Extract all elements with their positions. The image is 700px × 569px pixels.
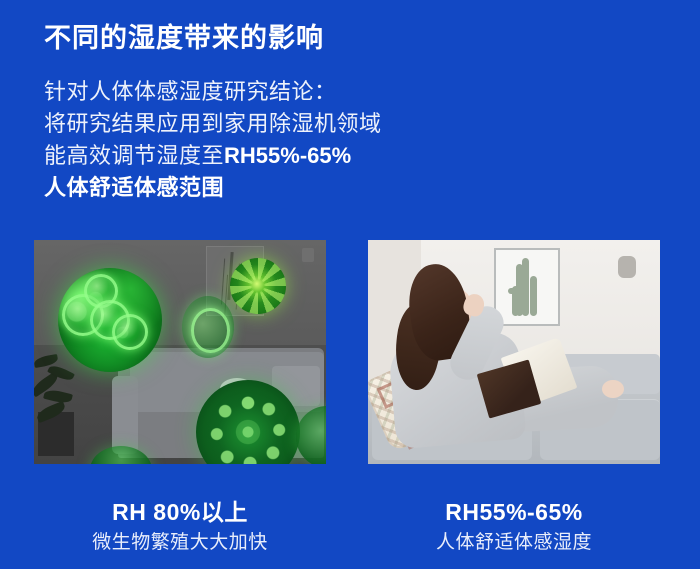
microbe-sphere-hanging [230, 258, 286, 314]
caption-sub-left: 微生物繁殖大大加快 [34, 531, 326, 555]
woman-reading-sofa-photo [368, 240, 660, 464]
page-title: 不同的湿度带来的影响 [44, 16, 324, 55]
microbe-cell [112, 314, 148, 350]
caption-row: RH 80%以上 微生物繁殖大大加快 RH55%-65% 人体舒适体感湿度 [0, 498, 700, 568]
humidity-range-highlight: RH55%-65% [224, 143, 351, 168]
caption-block-right: RH55%-65% 人体舒适体感湿度 [368, 498, 660, 555]
caption-block-left: RH 80%以上 微生物繁殖大大加快 [34, 498, 326, 555]
bright-living-room-scene [368, 240, 660, 464]
intro-copy-line-3-text: 能高效调节湿度至 [44, 143, 224, 168]
intro-copy-line-2: 将研究结果应用到家用除湿机领域 [44, 108, 382, 140]
woman-figure [386, 264, 616, 454]
caption-title-right: RH55%-65% [368, 498, 660, 526]
caption-title-left: RH 80%以上 [34, 498, 326, 526]
poster-root: 不同的湿度带来的影响 针对人体体感湿度研究结论： 将研究结果应用到家用除湿机领域… [0, 0, 700, 569]
intro-copy-line-1: 针对人体体感湿度研究结论： [44, 76, 382, 108]
wall-switch [302, 248, 314, 262]
dark-room-microbes-photo [34, 240, 326, 464]
intro-copy-block: 针对人体体感湿度研究结论： 将研究结果应用到家用除湿机领域 能高效调节湿度至RH… [44, 76, 382, 204]
microbe-sphere-small-right [182, 296, 234, 358]
microbe-sphere-large [58, 268, 162, 372]
intro-copy-line-4: 人体舒适体感范围 [44, 172, 382, 204]
photo-row [0, 240, 700, 464]
sofa-arm [112, 376, 138, 454]
intro-copy-line-3: 能高效调节湿度至RH55%-65% [44, 140, 382, 172]
caption-sub-right: 人体舒适体感湿度 [368, 531, 660, 555]
wall-speaker [618, 256, 636, 278]
microbe-sphere-bottom [196, 380, 300, 464]
woman-foot [602, 380, 624, 398]
